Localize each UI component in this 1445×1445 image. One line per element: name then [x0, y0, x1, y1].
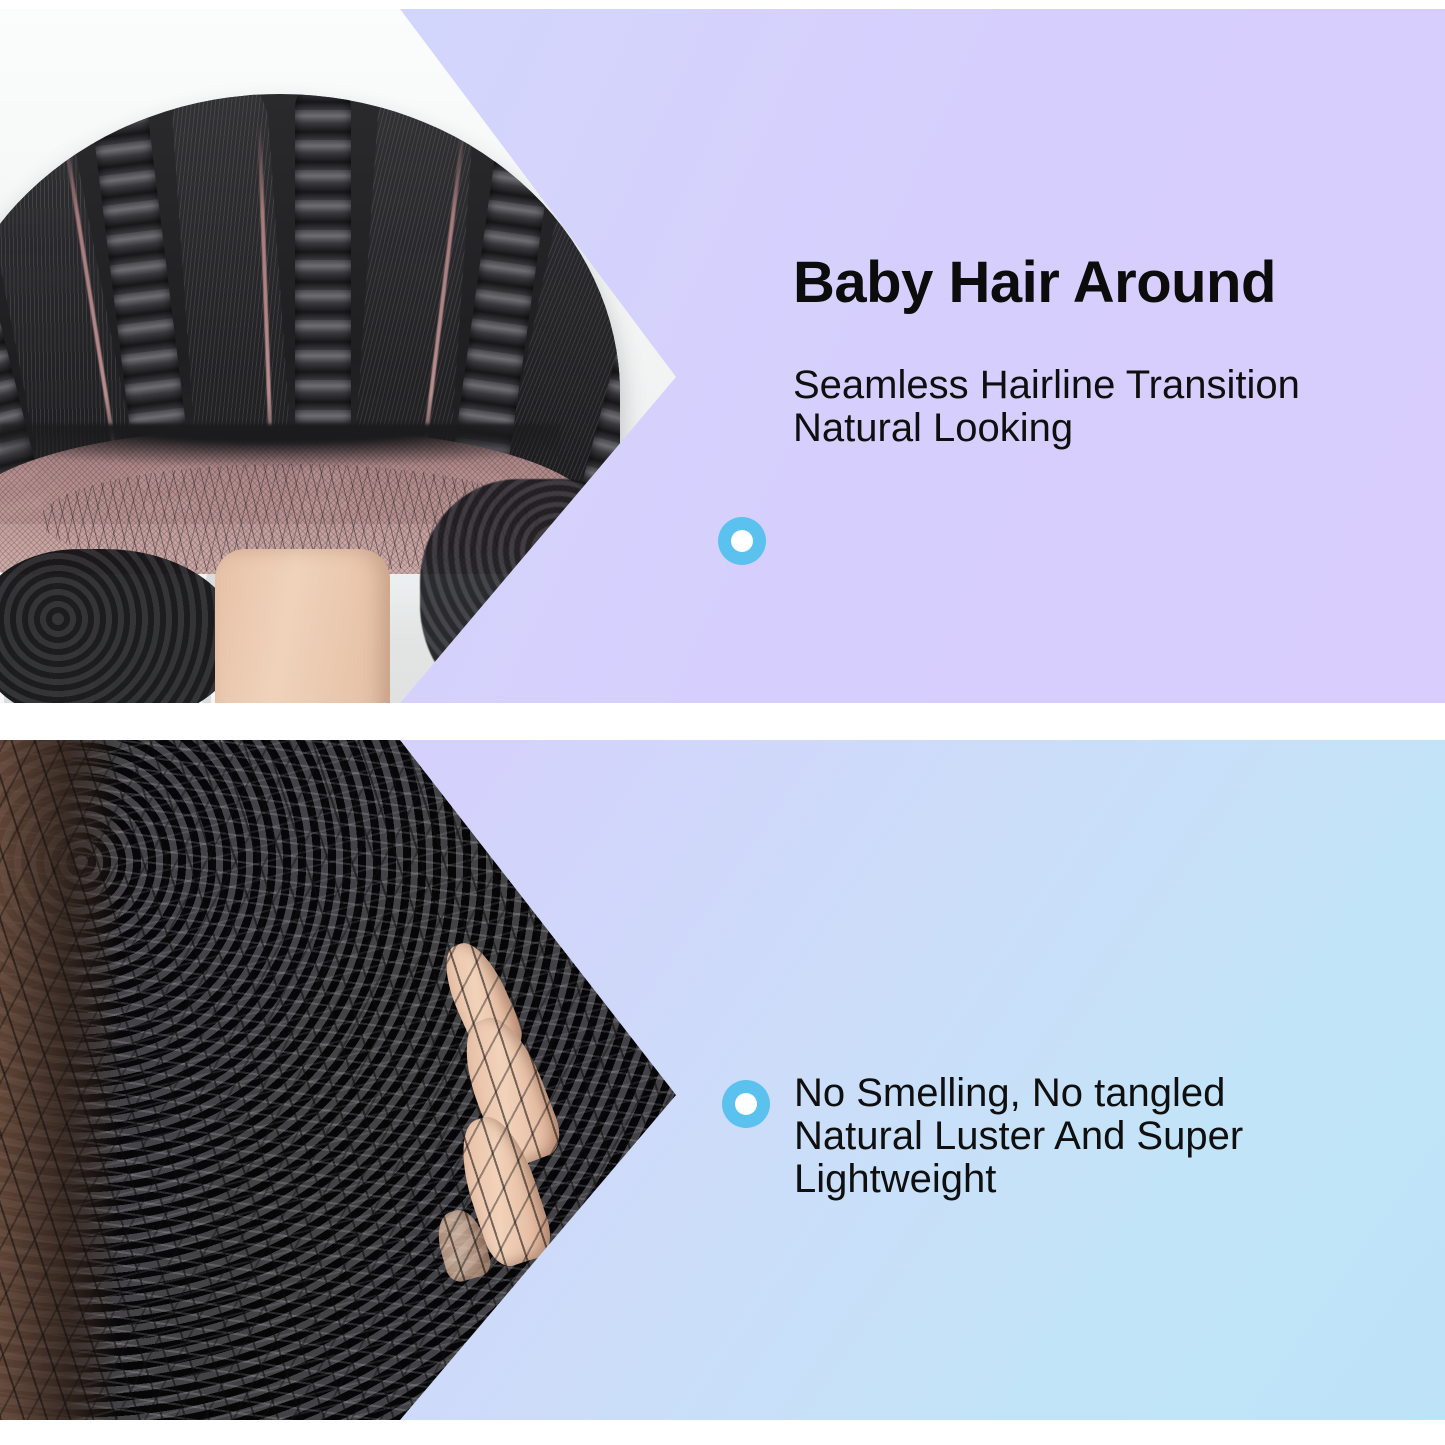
feature-panel-baby-hair-around: Baby Hair Around Seamless Hairline Trans… [0, 9, 1445, 703]
product-feature-infographic: Baby Hair Around Seamless Hairline Trans… [0, 0, 1445, 1445]
panel-1-subline-line-2: Natural Looking [793, 407, 1445, 450]
panel-2-subline: No Smelling, No tangled Natural Luster A… [794, 1072, 1422, 1202]
panel-2-subline-line-2: Natural Luster And Super [794, 1115, 1422, 1158]
bullet-dot-icon [722, 1080, 770, 1128]
bullet-dot-icon [718, 517, 766, 565]
panel-2-subline-line-1: No Smelling, No tangled [794, 1072, 1422, 1115]
panel-2-subline-line-3: Lightweight [794, 1158, 1422, 1201]
panel-1-subline: Seamless Hairline Transition Natural Loo… [793, 364, 1445, 450]
photo-1-hand [215, 549, 390, 703]
panel-1-subline-line-1: Seamless Hairline Transition [793, 364, 1445, 407]
panel-2-bullet-row: No Smelling, No tangled Natural Luster A… [722, 1072, 1422, 1202]
panel-divider [0, 703, 1445, 740]
panel-1-headline: Baby Hair Around [793, 252, 1276, 313]
